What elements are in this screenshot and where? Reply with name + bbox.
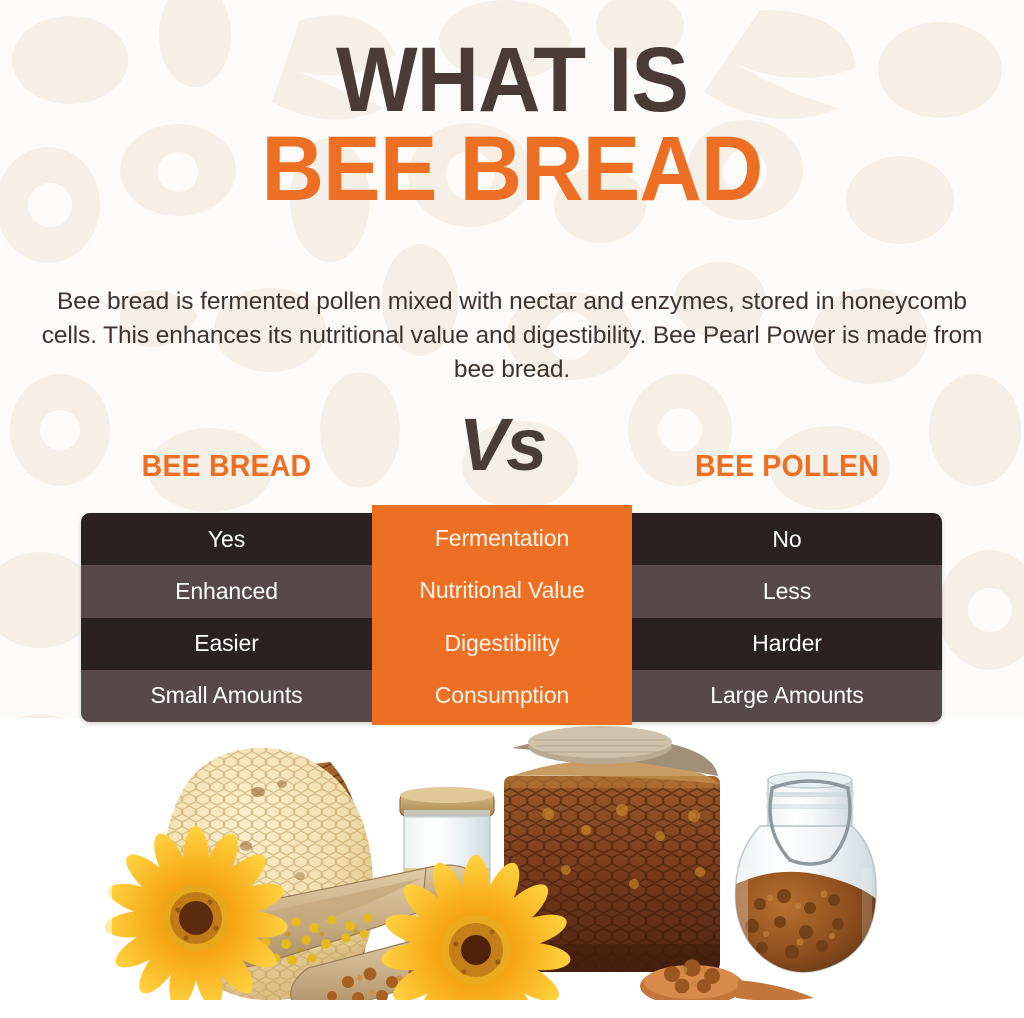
burlap-bundle [528,726,672,764]
intro-paragraph: Bee bread is fermented pollen mixed with… [40,285,984,386]
cell-bee-bread: Yes [81,526,372,553]
cell-bee-pollen: No [632,526,942,553]
attribute-consumption: Consumption [372,669,632,721]
cell-bee-pollen: Large Amounts [632,682,942,709]
cell-bee-pollen: Less [632,578,942,605]
cell-bee-pollen: Harder [632,630,942,657]
vs-label: Vs [372,408,632,482]
heading-bee-bread: BEE BREAD [93,448,361,484]
cell-bee-bread: Easier [81,630,372,657]
infographic-canvas: WHAT IS BEE BREAD Bee bread is fermented… [0,0,1024,1018]
heading-bee-pollen: BEE POLLEN [644,448,929,484]
cell-bee-bread: Small Amounts [81,682,372,709]
attribute-nutritional-value: Nutritional Value [372,565,632,617]
attribute-digestibility: Digestibility [372,617,632,669]
title-line-what-is: WHAT IS [31,38,994,123]
attribute-column: Fermentation Nutritional Value Digestibi… [372,505,632,725]
title-line-bee-bread: BEE BREAD [31,125,994,213]
attribute-fermentation: Fermentation [372,513,632,565]
product-photo [0,718,1024,1018]
page-title: WHAT IS BEE BREAD [0,38,1024,213]
cell-bee-bread: Enhanced [81,578,372,605]
